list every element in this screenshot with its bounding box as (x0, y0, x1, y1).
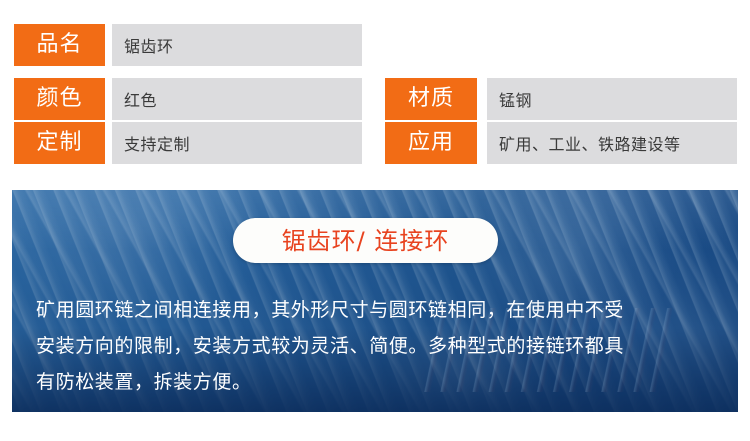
banner-title-text: 锯齿环/ 连接环 (282, 229, 450, 253)
spec-row-product-name: 品名 锯齿环 (14, 24, 362, 66)
banner-description-line-1: 矿用圆环链之间相连接用，其外形尺寸与圆环链相同，在使用中不受 (36, 292, 720, 328)
spec-label-product-name: 品名 (14, 24, 105, 66)
banner-description-line-3: 有防松装置，拆装方便。 (36, 364, 720, 400)
spec-value-material: 锰钢 (487, 78, 737, 120)
spec-label-application: 应用 (385, 122, 477, 164)
spec-label-material: 材质 (385, 78, 477, 120)
spec-label-customization: 定制 (14, 122, 105, 164)
spec-value-customization: 支持定制 (112, 122, 362, 164)
spec-row-customization: 定制 支持定制 (14, 122, 362, 164)
banner-description: 矿用圆环链之间相连接用，其外形尺寸与圆环链相同，在使用中不受 安装方向的限制，安… (36, 292, 720, 400)
spec-label-color: 颜色 (14, 78, 105, 120)
spec-table: 品名 锯齿环 颜色 红色 定制 支持定制 材质 锰钢 应用 矿用、工业、铁路建设… (0, 0, 750, 186)
spec-row-material: 材质 锰钢 (385, 78, 737, 120)
product-detail-page: 品名 锯齿环 颜色 红色 定制 支持定制 材质 锰钢 应用 矿用、工业、铁路建设… (0, 0, 750, 441)
spec-row-color: 颜色 红色 (14, 78, 362, 120)
spec-value-product-name: 锯齿环 (112, 24, 362, 66)
spec-value-color: 红色 (112, 78, 362, 120)
spec-row-application: 应用 矿用、工业、铁路建设等 (385, 122, 737, 164)
spec-value-application: 矿用、工业、铁路建设等 (487, 122, 737, 164)
banner-description-line-2: 安装方向的限制，安装方式较为灵活、简便。多种型式的接链环都具 (36, 328, 720, 364)
banner-title-badge: 锯齿环/ 连接环 (233, 218, 498, 263)
